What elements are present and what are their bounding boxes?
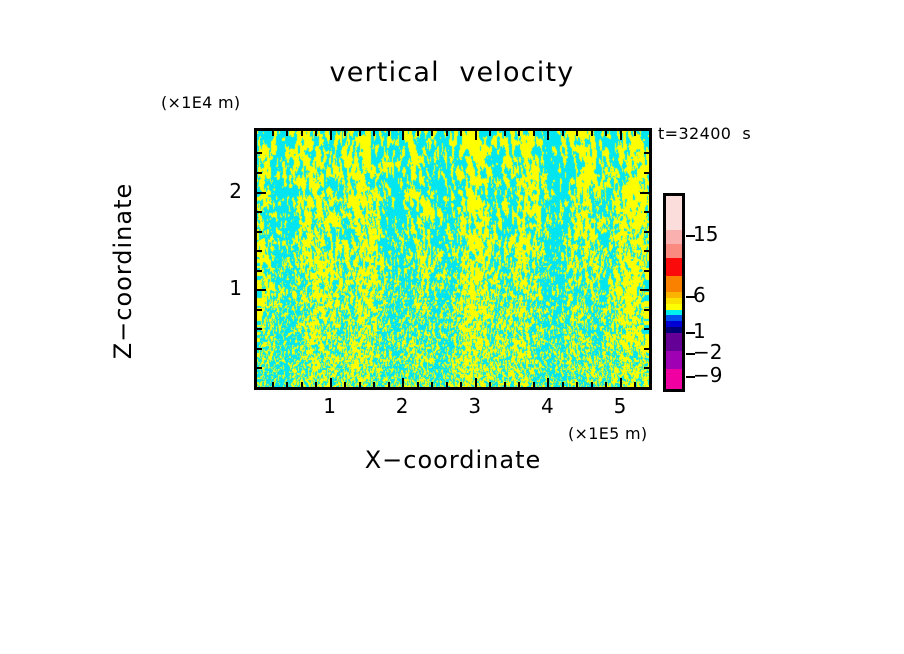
- colorbar-tick-label: 6: [693, 283, 706, 307]
- x-minor-tick: [344, 382, 346, 387]
- y-minor-tick: [644, 250, 649, 252]
- y-minor-tick: [257, 309, 262, 311]
- x-minor-tick: [344, 131, 346, 136]
- y-major-tick: [640, 289, 649, 291]
- y-minor-tick: [257, 367, 262, 369]
- colorbar-band: [666, 258, 682, 276]
- x-minor-tick: [504, 382, 506, 387]
- y-minor-tick: [644, 152, 649, 154]
- y-minor-tick: [257, 250, 262, 252]
- x-minor-tick: [518, 382, 520, 387]
- colorbar-band: [666, 369, 682, 389]
- x-minor-tick: [301, 382, 303, 387]
- x-major-tick: [402, 378, 404, 387]
- colorbar: [663, 193, 685, 392]
- x-tick-label: 4: [527, 394, 567, 418]
- x-minor-tick: [388, 382, 390, 387]
- x-minor-tick: [489, 131, 491, 136]
- x-minor-tick: [576, 131, 578, 136]
- x-tick-label: 5: [600, 394, 640, 418]
- page-title: vertical velocity: [0, 57, 904, 88]
- x-minor-tick: [388, 131, 390, 136]
- x-minor-tick: [591, 382, 593, 387]
- colorbar-band: [666, 351, 682, 369]
- x-minor-tick: [272, 382, 274, 387]
- colorbar-band: [666, 196, 682, 230]
- y-minor-tick: [644, 211, 649, 213]
- x-major-tick: [475, 378, 477, 387]
- y-minor-tick: [257, 172, 262, 174]
- x-minor-tick: [446, 131, 448, 136]
- x-minor-tick: [489, 382, 491, 387]
- x-minor-tick: [634, 131, 636, 136]
- colorbar-tick-label: −2: [693, 340, 722, 364]
- x-minor-tick: [591, 131, 593, 136]
- x-minor-tick: [286, 131, 288, 136]
- y-axis-unit-label: (×1E4 m): [161, 93, 240, 112]
- y-minor-tick: [644, 270, 649, 272]
- colorbar-band: [666, 276, 682, 292]
- x-axis-unit-label: (×1E5 m): [568, 424, 647, 443]
- colorbar-band: [666, 333, 682, 351]
- x-minor-tick: [431, 131, 433, 136]
- colorbar-tick-label: 15: [693, 222, 718, 246]
- y-minor-tick: [644, 348, 649, 350]
- x-minor-tick: [417, 131, 419, 136]
- y-minor-tick: [644, 172, 649, 174]
- x-tick-label: 3: [455, 394, 495, 418]
- y-major-tick: [257, 192, 266, 194]
- x-minor-tick: [533, 382, 535, 387]
- x-minor-tick: [605, 131, 607, 136]
- vertical-velocity-figure: vertical velocity (×1E4 m) (×1E5 m) t=32…: [0, 0, 904, 654]
- colorbar-band: [666, 244, 682, 258]
- y-minor-tick: [257, 211, 262, 213]
- x-major-tick: [402, 131, 404, 140]
- time-annotation: t=32400 s: [658, 124, 751, 143]
- y-minor-tick: [644, 309, 649, 311]
- x-minor-tick: [417, 382, 419, 387]
- x-minor-tick: [373, 131, 375, 136]
- x-major-tick: [330, 131, 332, 140]
- x-minor-tick: [272, 131, 274, 136]
- x-minor-tick: [315, 131, 317, 136]
- x-minor-tick: [460, 382, 462, 387]
- x-minor-tick: [518, 131, 520, 136]
- x-minor-tick: [504, 131, 506, 136]
- y-major-tick: [640, 192, 649, 194]
- colorbar-tick-label: −9: [693, 363, 722, 387]
- x-minor-tick: [460, 131, 462, 136]
- x-major-tick: [620, 378, 622, 387]
- y-major-tick: [257, 289, 266, 291]
- y-axis-title: Z−coordinate: [109, 131, 137, 411]
- x-major-tick: [547, 378, 549, 387]
- x-tick-label: 2: [382, 394, 422, 418]
- y-minor-tick: [644, 367, 649, 369]
- y-minor-tick: [257, 152, 262, 154]
- x-major-tick: [330, 378, 332, 387]
- x-major-tick: [547, 131, 549, 140]
- x-minor-tick: [359, 382, 361, 387]
- y-minor-tick: [257, 348, 262, 350]
- colorbar-band: [666, 230, 682, 244]
- x-minor-tick: [605, 382, 607, 387]
- x-minor-tick: [576, 382, 578, 387]
- y-tick-label: 1: [214, 276, 242, 300]
- y-minor-tick: [257, 328, 262, 330]
- x-minor-tick: [301, 131, 303, 136]
- plot-area: [254, 128, 652, 390]
- x-major-tick: [475, 131, 477, 140]
- x-minor-tick: [431, 382, 433, 387]
- x-axis-title: X−coordinate: [254, 446, 652, 474]
- y-minor-tick: [257, 270, 262, 272]
- y-minor-tick: [644, 231, 649, 233]
- x-minor-tick: [359, 131, 361, 136]
- x-minor-tick: [562, 131, 564, 136]
- x-major-tick: [620, 131, 622, 140]
- x-minor-tick: [286, 382, 288, 387]
- x-minor-tick: [562, 382, 564, 387]
- x-minor-tick: [533, 131, 535, 136]
- y-minor-tick: [257, 231, 262, 233]
- x-minor-tick: [446, 382, 448, 387]
- x-minor-tick: [373, 382, 375, 387]
- x-minor-tick: [315, 382, 317, 387]
- y-minor-tick: [644, 328, 649, 330]
- x-tick-label: 1: [310, 394, 350, 418]
- velocity-field-image: [257, 131, 649, 387]
- y-tick-label: 2: [214, 179, 242, 203]
- x-minor-tick: [634, 382, 636, 387]
